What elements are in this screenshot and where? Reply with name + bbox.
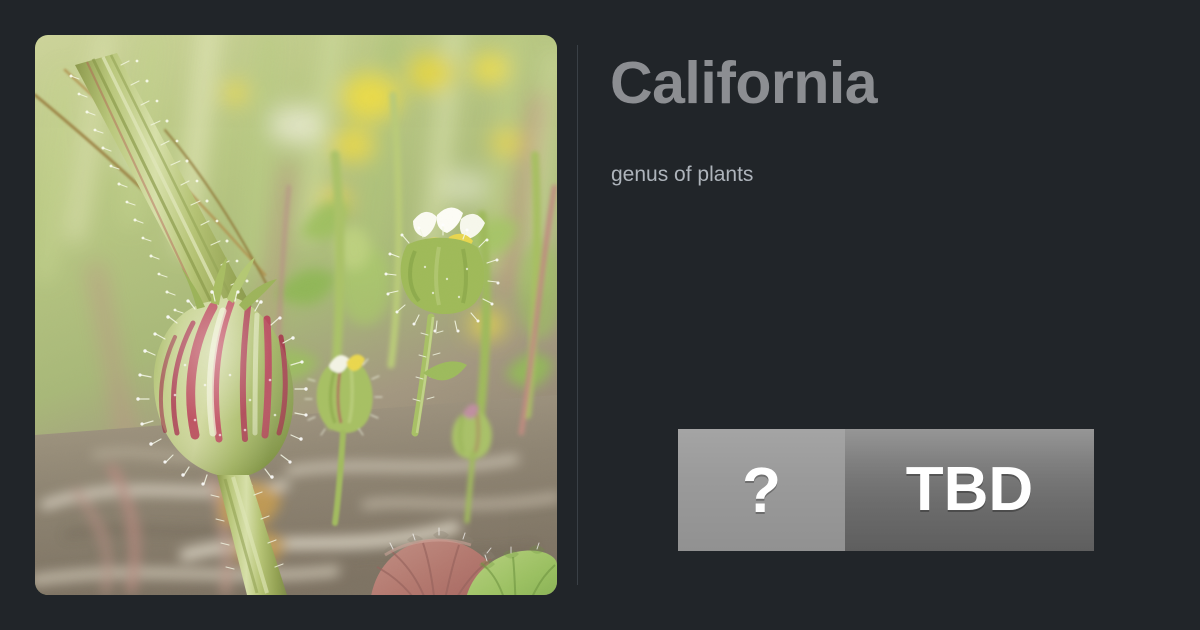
page-title: California: [610, 53, 877, 115]
badge-value-label: TBD: [906, 459, 1033, 521]
subject-photo: [35, 35, 557, 595]
summary-card: California genus of plants ? TBD: [0, 0, 1200, 630]
badge-right-section: TBD: [845, 429, 1094, 551]
info-pane: California genus of plants ? TBD: [610, 35, 1130, 595]
question-mark-icon: ?: [742, 458, 781, 522]
photo-canvas: [35, 35, 557, 595]
vertical-divider: [577, 45, 578, 585]
status-badge[interactable]: ? TBD: [678, 429, 1094, 551]
page-subtitle: genus of plants: [611, 163, 753, 187]
badge-left-section: ?: [678, 429, 845, 551]
